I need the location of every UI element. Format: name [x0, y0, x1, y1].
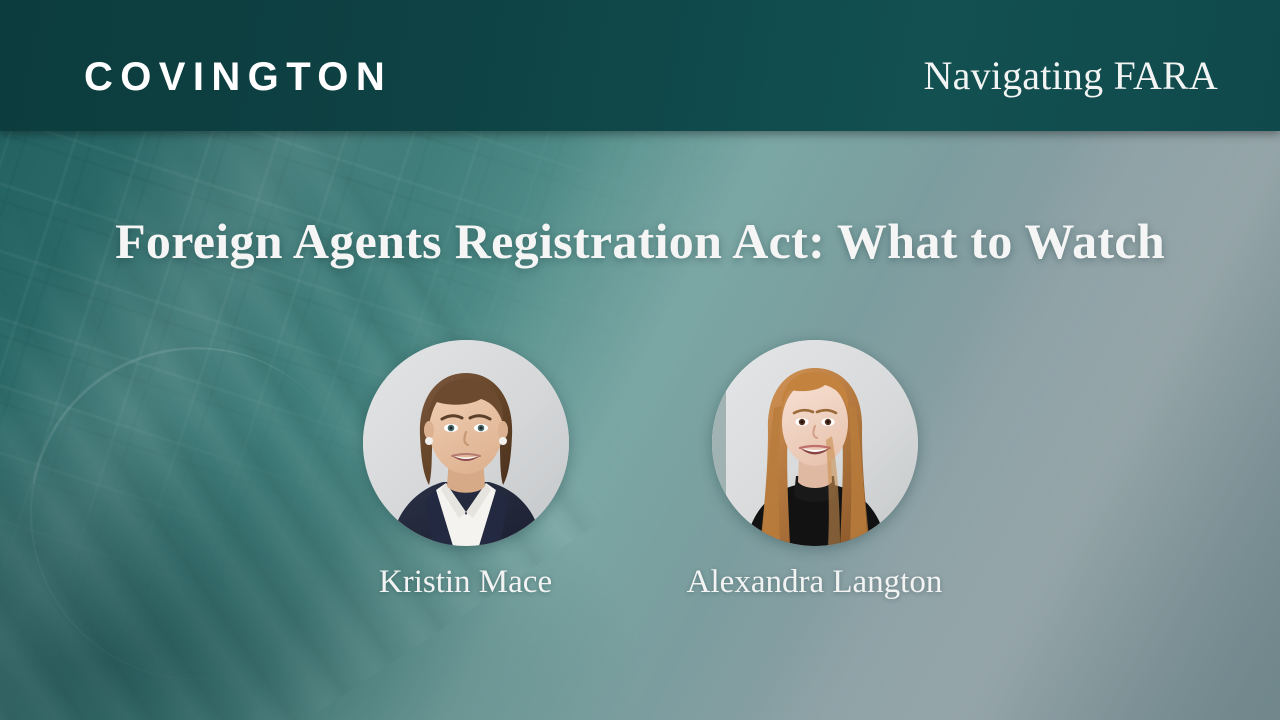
avatar — [363, 340, 569, 546]
portrait-alexandra-langton — [712, 340, 918, 546]
speaker-item: Alexandra Langton — [712, 340, 918, 602]
speaker-item: Kristin Mace — [363, 340, 569, 602]
page-title: Foreign Agents Registration Act: What to… — [0, 209, 1280, 273]
speaker-list: Kristin Mace — [0, 340, 1280, 602]
slide-content: Foreign Agents Registration Act: What to… — [0, 0, 1280, 720]
portrait-kristin-mace — [363, 340, 569, 546]
speaker-name: Alexandra Langton — [687, 562, 943, 602]
avatar — [712, 340, 918, 546]
presentation-slide: COVINGTON Navigating FARA Foreign Agents… — [0, 0, 1280, 720]
speaker-name: Kristin Mace — [379, 562, 552, 602]
